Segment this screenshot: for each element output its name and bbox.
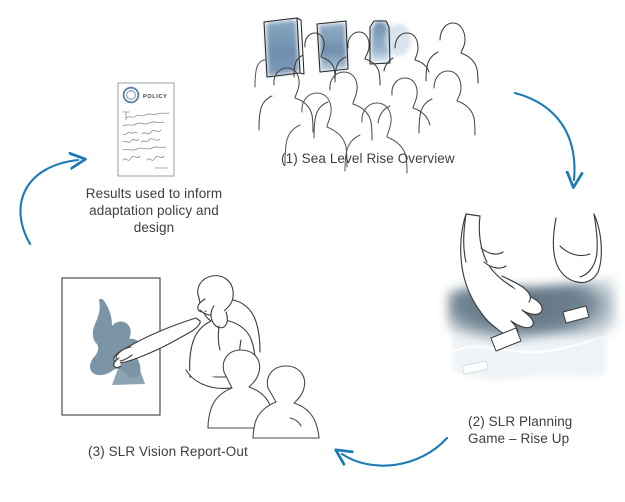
step-4-label: Results used to inform adaptation policy… xyxy=(63,185,245,236)
step-3-label: (3) SLR Vision Report-Out xyxy=(88,443,283,460)
arrow-step1-to-step2 xyxy=(515,93,574,180)
policy-seal-label: POLICY xyxy=(143,94,167,100)
arrow-step2-to-step3 xyxy=(342,438,447,466)
illustration-slr-vision-report-out xyxy=(62,276,319,438)
seated-audience-front xyxy=(208,350,319,438)
illustration-slr-planning-game xyxy=(448,214,616,380)
step-2-label: (2) SLR Planning Game – Rise Up xyxy=(468,413,608,447)
illustration-policy-document: POLICY xyxy=(118,83,174,176)
step-1-label: (1) Sea Level Rise Overview xyxy=(281,150,491,167)
crowd-middle-row xyxy=(259,68,475,140)
